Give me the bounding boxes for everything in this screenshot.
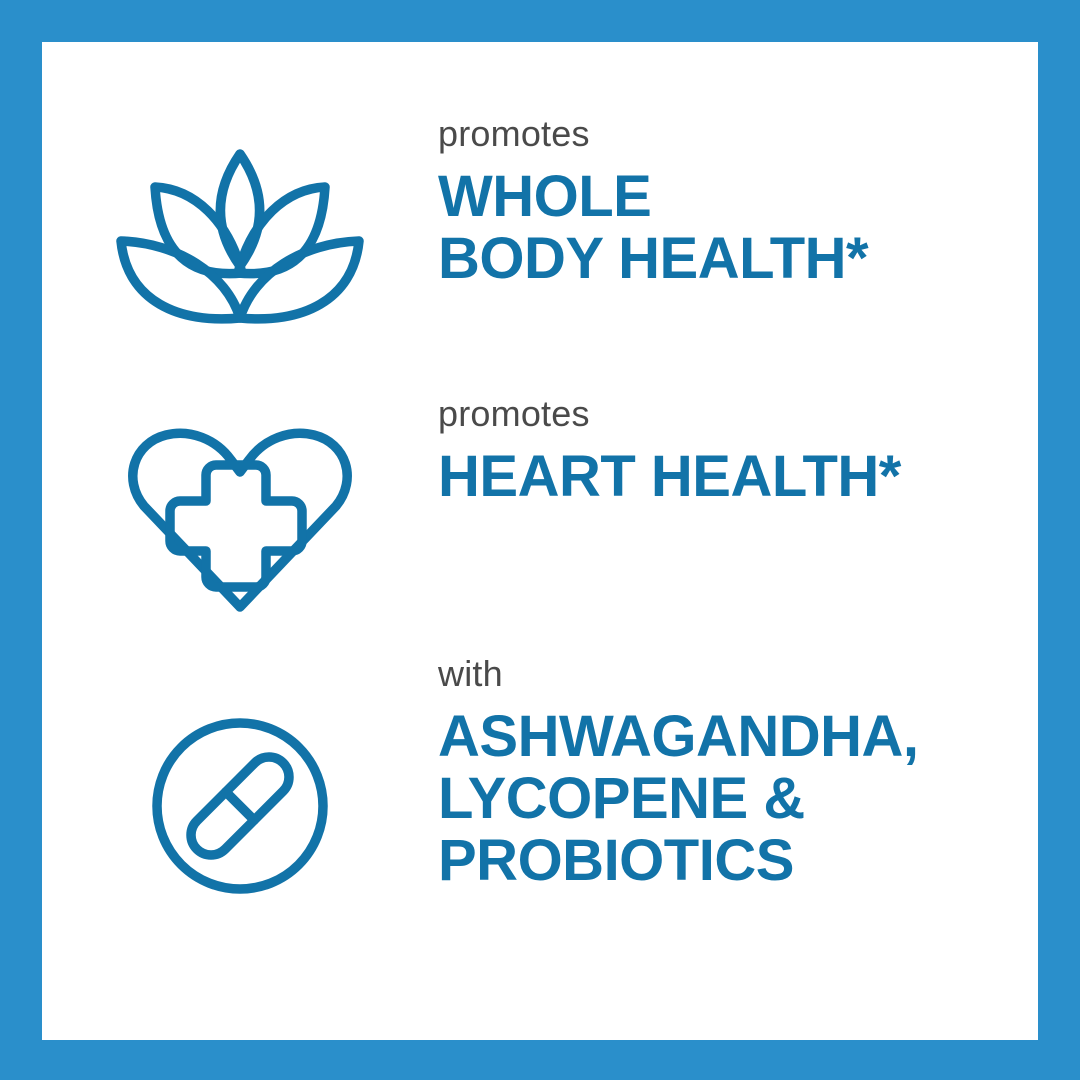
text-cell-whole-body-health: promotes WHOLE BODY HEALTH*	[438, 112, 1038, 290]
icon-cell-capsule	[42, 652, 438, 894]
capsule-in-circle-icon	[152, 718, 328, 894]
feature-row-heart-health: promotes HEART HEALTH*	[42, 392, 1038, 617]
headline-line: HEART HEALTH*	[438, 446, 1038, 508]
headline-ingredients: ASHWAGANDHA, LYCOPENE & PROBIOTICS	[438, 706, 1038, 892]
heart-with-cross-icon	[128, 427, 352, 617]
headline-line: WHOLE	[438, 166, 1038, 228]
headline-whole-body-health: WHOLE BODY HEALTH*	[438, 166, 1038, 290]
icon-cell-lotus	[42, 112, 438, 330]
eyebrow-label: promotes	[438, 112, 1038, 156]
eyebrow-label: with	[438, 652, 1038, 696]
feature-row-ingredients: with ASHWAGANDHA, LYCOPENE & PROBIOTICS	[42, 652, 1038, 894]
headline-line: LYCOPENE &	[438, 768, 1038, 830]
headline-line: ASHWAGANDHA,	[438, 706, 1038, 768]
feature-row-list: promotes WHOLE BODY HEALTH*	[42, 42, 1038, 1040]
text-cell-ingredients: with ASHWAGANDHA, LYCOPENE & PROBIOTICS	[438, 652, 1038, 892]
lotus-flower-icon	[115, 140, 365, 330]
headline-line: PROBIOTICS	[438, 830, 1038, 892]
headline-heart-health: HEART HEALTH*	[438, 446, 1038, 508]
feature-card: promotes WHOLE BODY HEALTH*	[42, 42, 1038, 1040]
feature-row-whole-body-health: promotes WHOLE BODY HEALTH*	[42, 112, 1038, 330]
text-cell-heart-health: promotes HEART HEALTH*	[438, 392, 1038, 508]
headline-line: BODY HEALTH*	[438, 228, 1038, 290]
icon-cell-heart	[42, 392, 438, 617]
eyebrow-label: promotes	[438, 392, 1038, 436]
